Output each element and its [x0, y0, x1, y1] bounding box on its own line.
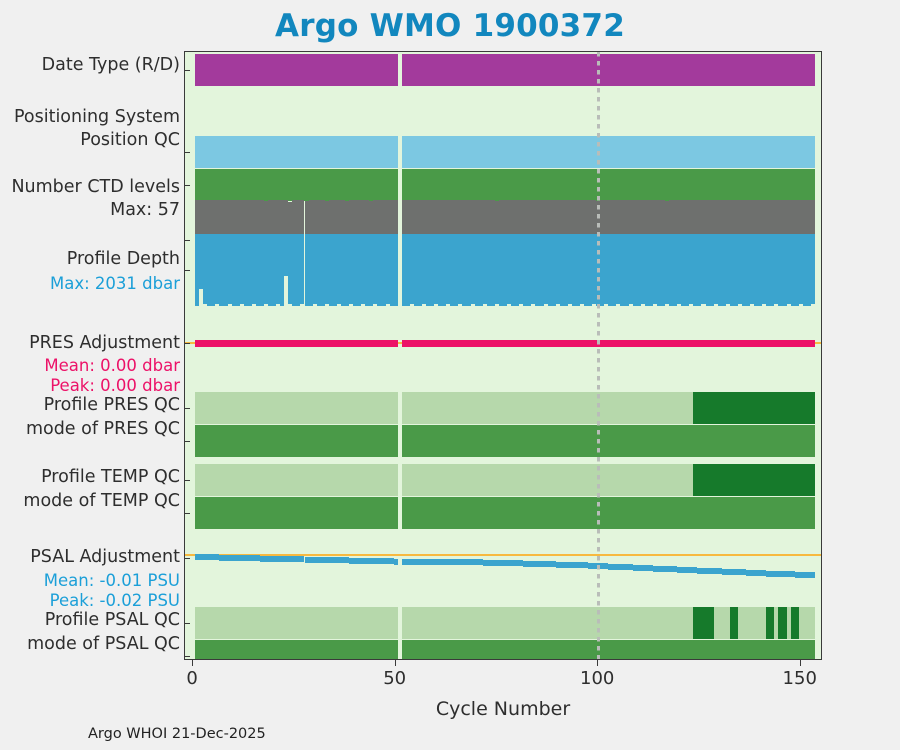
mode-of-pres-qc-block-segment-0 — [195, 425, 398, 457]
psal-adjustment-point — [811, 572, 815, 578]
label-profile-depth-max: Max: 2031 dbar — [0, 275, 180, 293]
x-tick-label: 50 — [383, 668, 406, 689]
y-tick — [185, 623, 190, 624]
mode-of-psal-qc-block-segment-0 — [195, 640, 398, 660]
y-tick — [185, 343, 190, 344]
y-tick — [185, 70, 190, 71]
profile-pres-qc-seg-0a — [195, 392, 398, 424]
y-tick — [185, 558, 190, 559]
profile-psal-qc-seg-1 — [693, 607, 713, 639]
date-type-block-segment-1 — [402, 54, 815, 86]
mode-of-temp-qc-block-segment-1 — [402, 497, 815, 529]
label-psal-adjustment: PSAL Adjustment — [0, 548, 180, 568]
pres-adjustment-line-1 — [402, 340, 815, 347]
label-psal-mean: Mean: -0.01 PSU — [0, 572, 180, 590]
mode-of-psal-qc-block-segment-1 — [402, 640, 815, 660]
x-axis-label: Cycle Number — [184, 698, 822, 720]
mode-of-temp-qc-block-segment-0 — [195, 497, 398, 529]
label-profile-depth: Profile Depth — [0, 250, 180, 270]
profile-pres-qc-seg-1 — [693, 392, 815, 424]
psal-adjustment-point — [394, 559, 398, 565]
profile-psal-qc-seg-0a — [195, 607, 398, 639]
label-pres-peak: Peak: 0.00 dbar — [0, 377, 180, 395]
y-tick — [185, 240, 190, 241]
reference-gridline-cycle-100 — [597, 52, 600, 659]
label-ctd-levels-max: Max: 57 — [0, 201, 180, 221]
profile-psal-qc-seg-4 — [738, 607, 766, 639]
label-positioning-system: Positioning System — [0, 108, 180, 128]
profile-psal-qc-seg-7 — [778, 607, 786, 639]
plot-area — [184, 51, 822, 660]
profile-psal-qc-seg-5 — [766, 607, 774, 639]
row-label-column: Date Type (R/D) Positioning System Posit… — [0, 51, 180, 660]
footer-credit: Argo WHOI 21-Dec-2025 — [88, 726, 266, 742]
profile-pres-qc-seg-0b — [402, 392, 694, 424]
positioning-system-block-segment-0 — [195, 136, 398, 168]
x-tick — [395, 660, 396, 666]
profile-psal-qc-seg-9 — [791, 607, 799, 639]
label-mode-of-psal-qc: mode of PSAL QC — [0, 635, 180, 655]
x-tick-label: 0 — [186, 668, 197, 689]
label-profile-pres-qc: Profile PRES QC — [0, 396, 180, 416]
profile-psal-qc-seg-10 — [799, 607, 815, 639]
position-qc-block-segment-0 — [195, 169, 398, 201]
profile-temp-qc-seg-0a — [195, 464, 398, 496]
profile-psal-qc-seg-2 — [714, 607, 730, 639]
y-tick — [185, 656, 190, 657]
y-tick — [185, 408, 190, 409]
label-mode-of-pres-qc: mode of PRES QC — [0, 420, 180, 440]
y-tick — [185, 480, 190, 481]
label-mode-of-temp-qc: mode of TEMP QC — [0, 492, 180, 512]
profile-temp-qc-seg-1 — [693, 464, 815, 496]
y-tick — [185, 185, 190, 186]
x-axis: 050100150 — [184, 660, 822, 700]
label-position-qc: Position QC — [0, 131, 180, 151]
label-pres-mean: Mean: 0.00 dbar — [0, 357, 180, 375]
y-tick — [185, 270, 190, 271]
profile-depth-bar — [811, 234, 815, 304]
plot-series-layer — [185, 52, 821, 659]
position-qc-block-segment-1 — [402, 169, 815, 201]
profile-psal-qc-seg-3 — [730, 607, 738, 639]
label-pres-adjustment: PRES Adjustment — [0, 334, 180, 354]
label-psal-peak: Peak: -0.02 PSU — [0, 592, 180, 610]
profile-temp-qc-seg-0b — [402, 464, 694, 496]
pres-adjustment-line-0 — [195, 340, 398, 347]
y-tick — [185, 152, 190, 153]
mode-of-pres-qc-block-segment-1 — [402, 425, 815, 457]
label-number-ctd-levels: Number CTD levels — [0, 178, 180, 198]
label-profile-temp-qc: Profile TEMP QC — [0, 468, 180, 488]
label-date-type: Date Type (R/D) — [0, 56, 180, 76]
x-tick — [597, 660, 598, 666]
x-tick — [192, 660, 193, 666]
date-type-block-segment-0 — [195, 54, 398, 86]
y-tick — [185, 441, 190, 442]
positioning-system-block-segment-1 — [402, 136, 815, 168]
x-tick-label: 100 — [580, 668, 614, 689]
profile-depth-bar — [394, 234, 398, 306]
label-profile-psal-qc: Profile PSAL QC — [0, 611, 180, 631]
page-title: Argo WMO 1900372 — [0, 8, 900, 44]
profile-psal-qc-seg-0b — [402, 607, 694, 639]
x-tick-label: 150 — [783, 668, 817, 689]
x-tick — [800, 660, 801, 666]
y-tick — [185, 513, 190, 514]
